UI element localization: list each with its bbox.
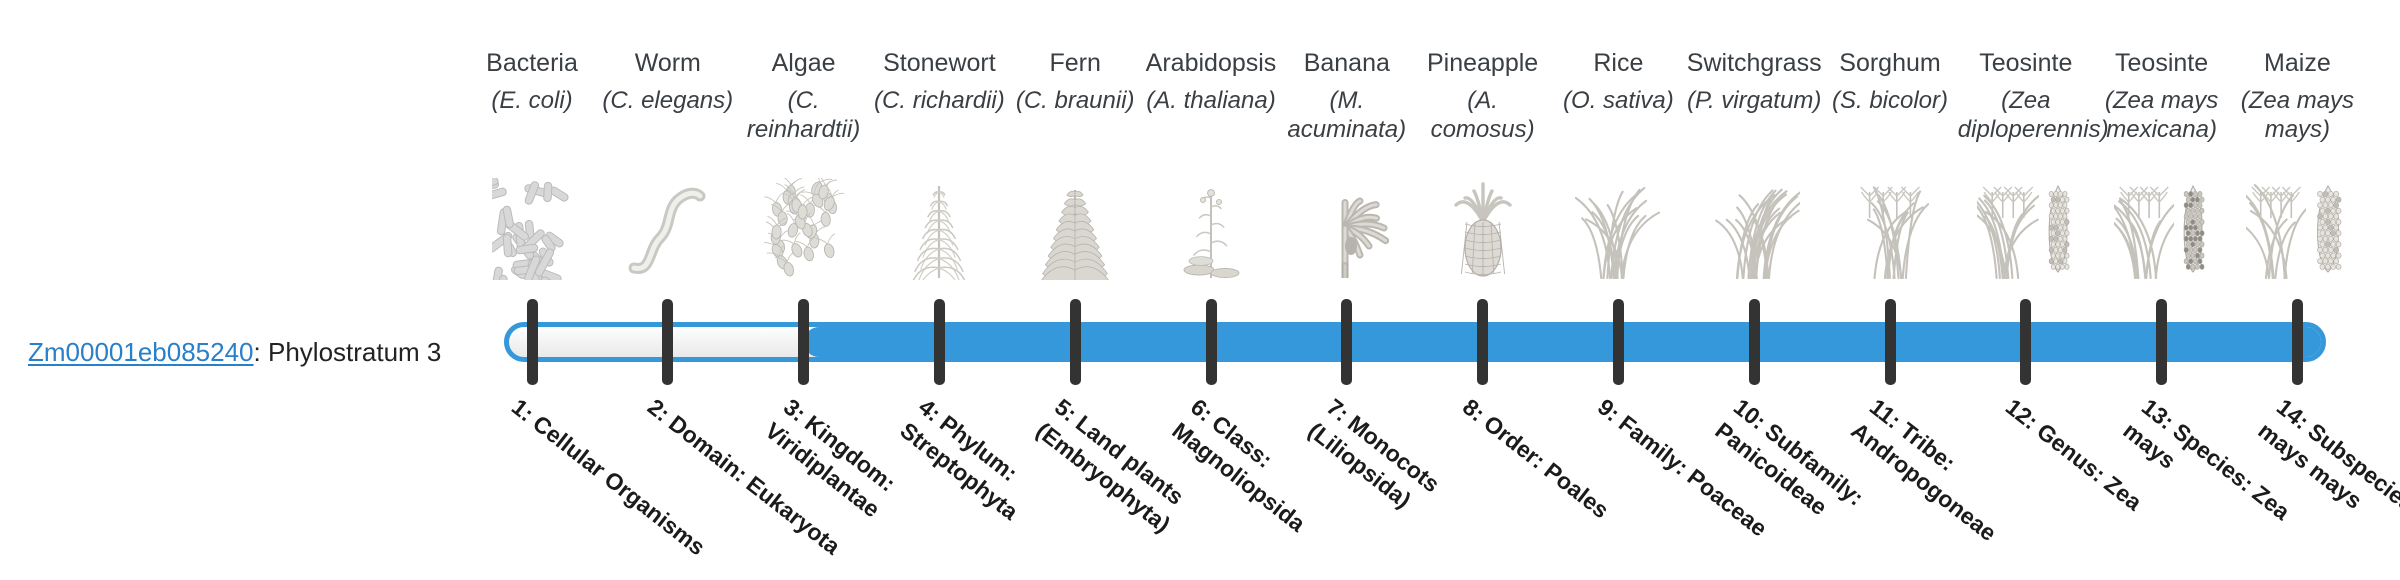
species-scientific-name: (Zea mays mays)	[2229, 86, 2365, 144]
stratum-number: 6:	[1186, 393, 1218, 426]
species-scientific-name: (C. richardii)	[871, 86, 1007, 115]
species-scientific-name: (Zea mays mexicana)	[2094, 86, 2230, 144]
species-column: Banana(M. acuminata)	[1279, 48, 1415, 144]
stratum-label: 13: Species: Zea mays	[2117, 392, 2343, 580]
stage-tick	[1749, 299, 1760, 385]
stratum-rank: Tribe: Andropogoneae	[1846, 417, 2001, 546]
species-scientific-name: (A. comosus)	[1415, 86, 1551, 144]
stratum-label: 14: Subspecies: Zea mays mays	[2253, 392, 2400, 580]
banana-icon	[1279, 172, 1415, 280]
species-common-name: Bacteria	[464, 48, 600, 78]
species-scientific-name: (A. thaliana)	[1143, 86, 1279, 115]
stratum-label: 2: Domain: Eukaryota	[641, 392, 849, 563]
species-scientific-name: (E. coli)	[464, 86, 600, 115]
stage-tick	[2156, 299, 2167, 385]
algae-icon	[736, 172, 872, 280]
species-common-name: Switchgrass	[1686, 48, 1822, 78]
stratum-rank: Kingdom: Viridiplantae	[760, 410, 900, 522]
stratum-label: 9: Family: Poaceae	[1592, 392, 1800, 563]
species-common-name: Stonewort	[871, 48, 1007, 78]
stratum-label: 12: Genus: Zea	[1999, 392, 2207, 563]
stratum-label: 4: Phylum: Streptophyta	[895, 392, 1121, 580]
stratum-number: 3:	[778, 393, 810, 426]
species-common-name: Teosinte	[2094, 48, 2230, 78]
fern-icon	[1007, 172, 1143, 280]
rice-icon	[1550, 172, 1686, 280]
stage-tick	[1885, 299, 1896, 385]
stratum-rank: Subspecies: Zea mays mays	[2254, 417, 2400, 550]
stratum-rank: Order: Poales	[1479, 410, 1614, 523]
species-column: Sorghum(S. bicolor)	[1822, 48, 1958, 115]
maize-icon	[2229, 172, 2365, 280]
species-common-name: Pineapple	[1415, 48, 1551, 78]
species-column: Stonewort(C. richardii)	[871, 48, 1007, 115]
species-column: Switchgrass(P. virgatum)	[1686, 48, 1822, 115]
stage-tick	[1070, 299, 1081, 385]
species-column: Arabidopsis(A. thaliana)	[1143, 48, 1279, 115]
species-common-name: Teosinte	[1958, 48, 2094, 78]
species-scientific-name: (M. acuminata)	[1279, 86, 1415, 144]
stratum-number: 8:	[1457, 393, 1489, 426]
species-column: Fern(C. braunii)	[1007, 48, 1143, 115]
stage-tick	[1477, 299, 1488, 385]
pineapple-icon	[1415, 172, 1551, 280]
stratum-number: 5:	[1050, 393, 1082, 426]
species-common-name: Banana	[1279, 48, 1415, 78]
stonewort-icon	[871, 172, 1007, 280]
stage-tick	[1341, 299, 1352, 385]
stratum-rank: Cellular Organisms	[528, 410, 710, 560]
species-common-name: Worm	[600, 48, 736, 78]
species-common-name: Arabidopsis	[1143, 48, 1279, 78]
gene-id-link[interactable]: Zm00001eb085240	[28, 337, 254, 367]
species-column: Rice(O. sativa)	[1550, 48, 1686, 115]
species-common-name: Algae	[736, 48, 872, 78]
species-column: Bacteria(E. coli)	[464, 48, 600, 115]
species-scientific-name: (O. sativa)	[1550, 86, 1686, 115]
stage-tick	[2020, 299, 2031, 385]
gene-phylostratum-label: Zm00001eb085240: Phylostratum 3	[28, 335, 441, 369]
species-column: Maize(Zea mays mays)	[2229, 48, 2365, 144]
species-column: Worm(C. elegans)	[600, 48, 736, 115]
gene-label-separator: :	[254, 337, 268, 367]
species-scientific-name: (C. braunii)	[1007, 86, 1143, 115]
stratum-label: 3: Kingdom: Viridiplantae	[759, 392, 985, 580]
stratum-label: 10: Subfamily: Panicoideae	[1709, 392, 1935, 580]
stratum-label: 1: Cellular Organisms	[506, 392, 714, 563]
species-common-name: Fern	[1007, 48, 1143, 78]
worm-icon	[600, 172, 736, 280]
stratum-number: 7:	[1322, 393, 1354, 426]
stratum-label: 8: Order: Poales	[1456, 392, 1664, 563]
species-scientific-name: (C. elegans)	[600, 86, 736, 115]
stage-tick	[527, 299, 538, 385]
stratum-number: 1:	[507, 393, 539, 426]
stage-tick	[1613, 299, 1624, 385]
species-common-name: Rice	[1550, 48, 1686, 78]
stratum-rank: Class: Magnoliopsida	[1167, 410, 1310, 537]
species-scientific-name: (Zea diploperennis)	[1958, 86, 2094, 144]
stratum-label: 7: Monocots (Liliopsida)	[1302, 392, 1528, 580]
arabidopsis-icon	[1143, 172, 1279, 280]
phylostratum-progress-bar[interactable]	[504, 322, 2326, 362]
phylostratum-progress-fill	[804, 327, 2326, 357]
stratum-rank: Monocots (Liliopsida)	[1303, 410, 1444, 513]
species-scientific-name: (S. bicolor)	[1822, 86, 1958, 115]
species-common-name: Sorghum	[1822, 48, 1958, 78]
stratum-number: 14:	[2272, 393, 2314, 434]
stratum-number: 11:	[1865, 393, 1906, 433]
species-column: Teosinte(Zea diploperennis)	[1958, 48, 2094, 144]
stratum-number: 13:	[2136, 393, 2178, 434]
stage-tick	[1206, 299, 1217, 385]
stratum-number: 10:	[1729, 393, 1771, 434]
stratum-label: 11: Tribe: Andropogoneae	[1845, 392, 2071, 580]
stage-tick	[2292, 299, 2303, 385]
species-common-name: Maize	[2229, 48, 2365, 78]
teosinte-mexicana-icon	[2094, 172, 2230, 280]
stratum-rank: Family: Poaceae	[1614, 410, 1772, 541]
stage-tick	[662, 299, 673, 385]
species-column: Pineapple(A. comosus)	[1415, 48, 1551, 144]
stratum-rank: Domain: Eukaryota	[664, 410, 845, 560]
stratum-number: 12:	[2001, 393, 2043, 434]
stratum-rank: Land plants (Embryophyta)	[1032, 410, 1189, 538]
species-scientific-name: (C. reinhardtii)	[736, 86, 872, 144]
stratum-number: 2:	[643, 393, 675, 426]
stratum-rank: Phylum: Streptophyta	[896, 410, 1024, 525]
stratum-rank: Species: Zea mays	[2118, 417, 2295, 525]
stage-tick	[934, 299, 945, 385]
stratum-number: 9:	[1593, 393, 1625, 426]
species-column: Algae(C. reinhardtii)	[736, 48, 872, 144]
stratum-label: 6: Class: Magnoliopsida	[1166, 392, 1392, 580]
switchgrass-icon	[1686, 172, 1822, 280]
stratum-number: 4:	[914, 393, 946, 426]
stratum-rank: Genus: Zea	[2032, 418, 2147, 516]
species-scientific-name: (P. virgatum)	[1686, 86, 1822, 115]
stratum-rank: Subfamily: Panicoideae	[1711, 417, 1869, 520]
sorghum-icon	[1822, 172, 1958, 280]
phylostratum-value-label: Phylostratum 3	[268, 337, 441, 367]
species-column: Teosinte(Zea mays mexicana)	[2094, 48, 2230, 144]
stratum-label: 5: Land plants (Embryophyta)	[1030, 392, 1256, 580]
bacteria-icon	[464, 172, 600, 280]
stage-tick	[798, 299, 809, 385]
teosinte-diploperennis-icon	[1958, 172, 2094, 280]
phylostratum-figure: Zm00001eb085240: Phylostratum 3 Bacteria…	[0, 0, 2400, 580]
